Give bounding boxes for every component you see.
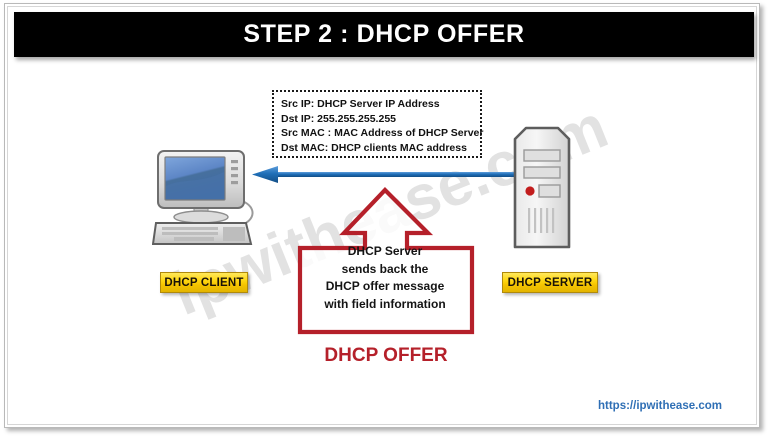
blue-left-arrow-icon: [252, 166, 530, 184]
client-node-label: DHCP CLIENT: [160, 272, 248, 293]
packet-info-line: Src MAC : MAC Address of DHCP Server: [281, 126, 480, 141]
packet-info-box: Src IP: DHCP Server IP Address Dst IP: 2…: [272, 90, 482, 158]
packet-info-line: Dst IP: 255.255.255.255: [281, 112, 480, 127]
dhcp-offer-diagram: STEP 2 : DHCP OFFER ipwithease.com Src I…: [0, 0, 768, 437]
callout-line: DHCP offer message: [300, 278, 470, 296]
server-node-label-text: DHCP SERVER: [508, 277, 593, 289]
server-node-label: DHCP SERVER: [502, 272, 598, 293]
server-tower-icon: [506, 126, 578, 252]
packet-info-line: Src IP: DHCP Server IP Address: [281, 97, 480, 112]
title-banner: STEP 2 : DHCP OFFER: [14, 12, 754, 57]
callout-line: DHCP Server: [300, 243, 470, 261]
offer-caption: DHCP OFFER: [290, 345, 482, 367]
client-node-label-text: DHCP CLIENT: [164, 277, 243, 289]
desktop-computer-icon: [152, 150, 264, 250]
callout-message: DHCP Server sends back the DHCP offer me…: [300, 243, 470, 313]
callout-line: sends back the: [300, 261, 470, 279]
footer-url[interactable]: https://ipwithease.com: [598, 400, 722, 412]
page-title: STEP 2 : DHCP OFFER: [243, 20, 524, 49]
packet-info-line: Dst MAC: DHCP clients MAC address: [281, 141, 480, 156]
callout-line: with field information: [300, 296, 470, 314]
